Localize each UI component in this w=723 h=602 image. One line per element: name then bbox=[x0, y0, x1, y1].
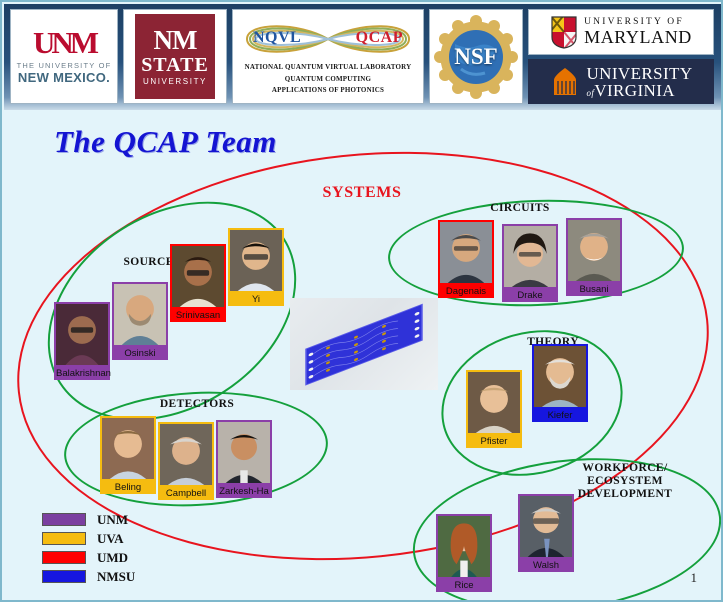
person-name: Drake bbox=[502, 290, 558, 302]
person-name: Kiefer bbox=[532, 410, 588, 422]
group-label-circuits: CIRCUITS bbox=[480, 202, 560, 215]
logo-nmsu: NM STATE UNIVERSITY bbox=[123, 9, 227, 104]
person-campbell: Campbell bbox=[158, 422, 214, 500]
legend-item-nmsu: NMSU bbox=[42, 567, 135, 586]
photonic-chip-illustration bbox=[290, 298, 438, 390]
uva-line2: VIRGINIA bbox=[594, 81, 675, 100]
photo-frame bbox=[436, 514, 492, 580]
legend-label: UMD bbox=[97, 550, 128, 566]
legend-swatch bbox=[42, 570, 86, 583]
unm-line2: NEW MEXICO. bbox=[18, 70, 110, 86]
slide-number: 1 bbox=[691, 570, 698, 586]
umd-line2: MARYLAND bbox=[584, 28, 692, 47]
person-rice: Rice bbox=[436, 514, 492, 592]
legend-item-unm: UNM bbox=[42, 510, 135, 529]
person-name: Srinivasan bbox=[170, 310, 226, 322]
photo-frame bbox=[532, 344, 588, 410]
person-pfister: Pfister bbox=[466, 370, 522, 448]
person-dagenais: Dagenais bbox=[438, 220, 494, 298]
person-osinski: Osinski bbox=[112, 282, 168, 360]
group-label-detectors: DETECTORS bbox=[152, 398, 242, 411]
photo-frame bbox=[112, 282, 168, 348]
nsf-globe-icon: NSF bbox=[433, 14, 519, 100]
page-title: The QCAP Team bbox=[54, 124, 277, 160]
photo-frame bbox=[502, 224, 558, 290]
nmsu-block: NM STATE UNIVERSITY bbox=[135, 14, 215, 99]
logo-unm: UNM THE UNIVERSITY OF NEW MEXICO. bbox=[10, 9, 118, 104]
photo-frame bbox=[228, 228, 284, 294]
logo-nqvl-qcap: NQVL QCAP NATIONAL QUANTUM VIRTUAL LABOR… bbox=[232, 9, 424, 104]
maryland-shield-icon bbox=[550, 15, 578, 49]
person-name: Rice bbox=[436, 580, 492, 592]
logo-uva: UNIVERSITY ofVIRGINIA bbox=[528, 59, 714, 104]
legend-item-uva: UVA bbox=[42, 529, 135, 548]
legend-item-umd: UMD bbox=[42, 548, 135, 567]
photo-frame bbox=[438, 220, 494, 286]
nqvl-caption-1: NATIONAL QUANTUM VIRTUAL LABORATORY bbox=[245, 62, 412, 74]
person-balakrishnan: Balakrishnan bbox=[54, 302, 110, 380]
person-name: Osinski bbox=[112, 348, 168, 360]
right-logo-column: UNIVERSITY OF MARYLAND bbox=[528, 9, 714, 104]
person-name: Zarkesh-Ha bbox=[216, 486, 272, 498]
person-name: Yi bbox=[228, 294, 284, 306]
legend-swatch bbox=[42, 532, 86, 545]
university-color-legend: UNM UVA UMD NMSU bbox=[42, 510, 135, 586]
legend-label: UVA bbox=[97, 531, 124, 547]
photo-frame bbox=[100, 416, 156, 482]
person-name: Walsh bbox=[518, 560, 574, 572]
photo-frame bbox=[54, 302, 110, 368]
person-walsh: Walsh bbox=[518, 494, 574, 572]
nsf-text: NSF bbox=[433, 44, 519, 70]
photo-frame bbox=[170, 244, 226, 310]
infinity-icon: NQVL QCAP bbox=[237, 16, 419, 62]
legend-swatch bbox=[42, 551, 86, 564]
person-zarkeshha: Zarkesh-Ha bbox=[216, 420, 272, 498]
person-name: Dagenais bbox=[438, 286, 494, 298]
person-drake: Drake bbox=[502, 224, 558, 302]
presentation-slide: UNM THE UNIVERSITY OF NEW MEXICO. NM STA… bbox=[0, 0, 723, 602]
photo-frame bbox=[216, 420, 272, 486]
person-kiefer: Kiefer bbox=[532, 344, 588, 422]
logo-nsf: NSF bbox=[429, 9, 523, 104]
person-name: Busani bbox=[566, 284, 622, 296]
logo-umd: UNIVERSITY OF MARYLAND bbox=[528, 9, 714, 55]
logo-header-bar: UNM THE UNIVERSITY OF NEW MEXICO. NM STA… bbox=[4, 4, 721, 110]
person-name: Balakrishnan bbox=[54, 368, 110, 380]
nqvl-caption-2: QUANTUM COMPUTING bbox=[285, 74, 371, 86]
photo-frame bbox=[518, 494, 574, 560]
photo-frame bbox=[158, 422, 214, 488]
legend-swatch bbox=[42, 513, 86, 526]
photo-frame bbox=[466, 370, 522, 436]
nmsu-line1: NM bbox=[154, 27, 197, 54]
qcap-text: QCAP bbox=[356, 29, 403, 47]
photo-frame bbox=[566, 218, 622, 284]
nmsu-line3: UNIVERSITY bbox=[143, 78, 207, 86]
person-name: Pfister bbox=[466, 436, 522, 448]
person-beling: Beling bbox=[100, 416, 156, 494]
person-name: Beling bbox=[100, 482, 156, 494]
workforce-line-1: WORKFORCE/ bbox=[542, 462, 708, 475]
unm-line1: THE UNIVERSITY OF bbox=[17, 61, 112, 70]
legend-label: UNM bbox=[97, 512, 128, 528]
person-yi: Yi bbox=[228, 228, 284, 306]
legend-label: NMSU bbox=[97, 569, 135, 585]
person-srinivasan: Srinivasan bbox=[170, 244, 226, 322]
rotunda-icon bbox=[550, 66, 580, 98]
nmsu-line2: STATE bbox=[141, 55, 209, 75]
uva-line1: UNIVERSITY bbox=[587, 65, 693, 82]
nqvl-caption-3: APPLICATIONS OF PHOTONICS bbox=[272, 85, 384, 97]
nqvl-text: NQVL bbox=[253, 29, 301, 47]
unm-mark-text: UNM bbox=[33, 27, 95, 58]
person-name: Campbell bbox=[158, 488, 214, 500]
person-busani: Busani bbox=[566, 218, 622, 296]
group-label-systems: SYSTEMS bbox=[302, 184, 422, 202]
